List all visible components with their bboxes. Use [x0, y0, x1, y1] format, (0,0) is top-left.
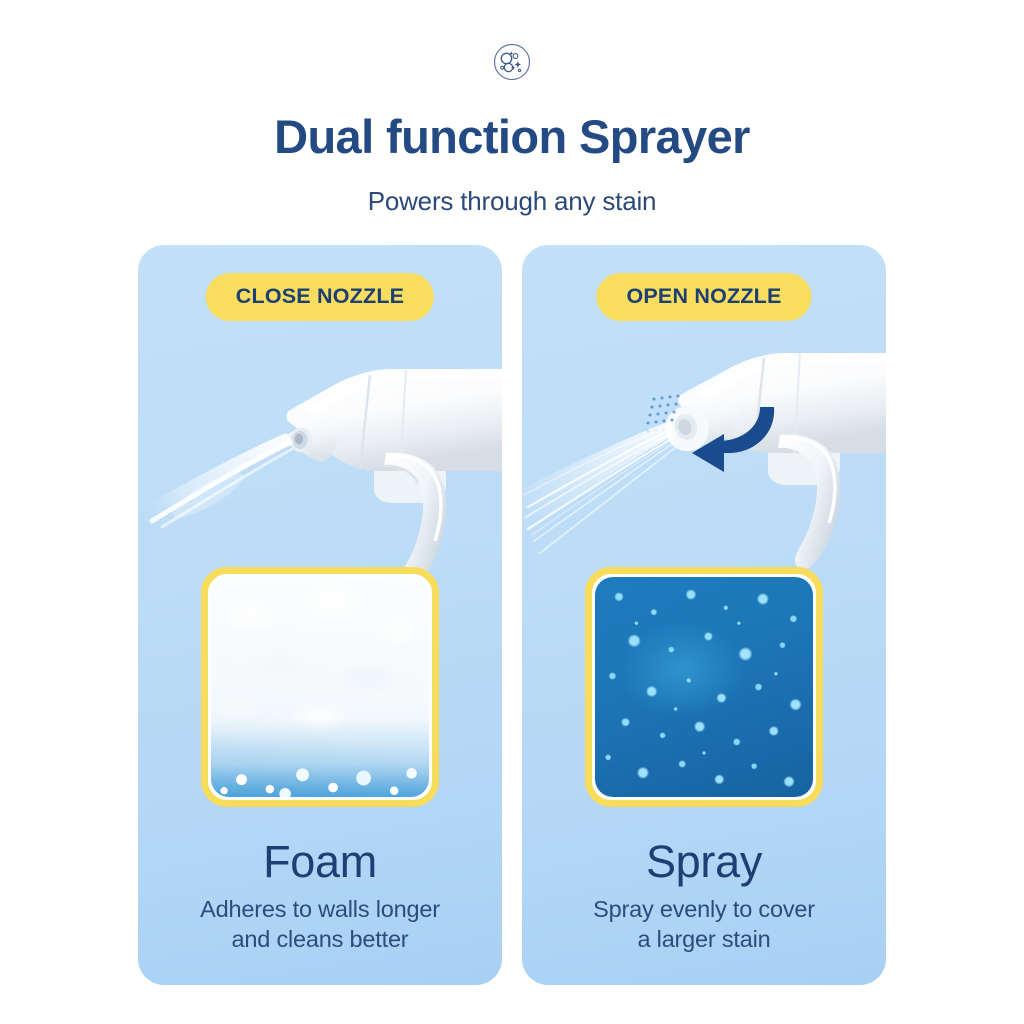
- page-subtitle: Powers through any stain: [0, 186, 1024, 217]
- mode-description-spray: Spray evenly to cover a larger stain: [536, 895, 872, 954]
- water-droplets-texture-image: [595, 577, 813, 797]
- page-title: Dual function Sprayer: [0, 112, 1024, 161]
- panel-spray[interactable]: OPEN NOZZLE: [522, 245, 886, 985]
- photo-tile-spray: [585, 567, 823, 807]
- mode-description-foam: Adheres to walls longer and cleans bette…: [152, 895, 488, 954]
- sprayer-illustration-spray: [522, 303, 886, 593]
- brand-logo: [0, 40, 1024, 84]
- panel-foam[interactable]: CLOSE NOZZLE: [138, 245, 502, 985]
- spray-bottle-trigger-head-icon: [522, 303, 886, 593]
- photo-tile-foam: [201, 567, 439, 807]
- mode-title-foam: Foam: [138, 839, 502, 884]
- sprayer-illustration-foam: [138, 303, 502, 593]
- product-infographic-page: Dual function Sprayer Powers through any…: [0, 0, 1024, 1024]
- mode-title-spray: Spray: [522, 839, 886, 884]
- spray-bottle-trigger-head-icon: [138, 303, 502, 593]
- bubbles-sparkle-circle-icon: [490, 40, 534, 84]
- foam-texture-image: [211, 577, 429, 797]
